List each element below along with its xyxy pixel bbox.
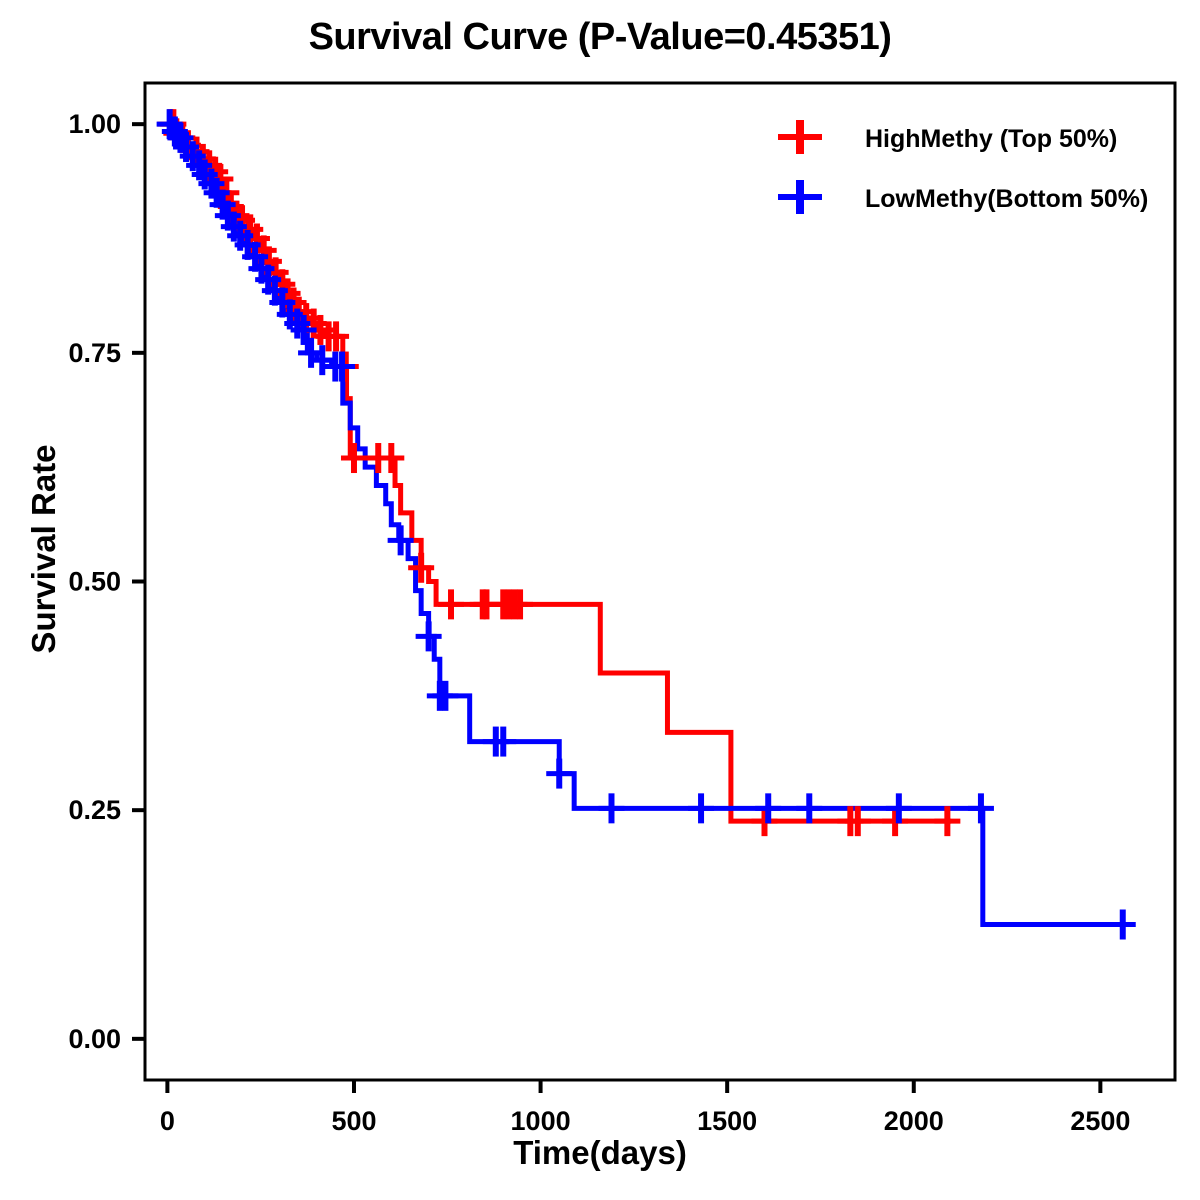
legend-item-high-methy[interactable]: HighMethy (Top 50%)	[778, 120, 1117, 154]
censor-plus-icon	[778, 120, 822, 154]
legend: HighMethy (Top 50%)LowMethy(Bottom 50%)	[778, 120, 1148, 214]
legend-label: HighMethy (Top 50%)	[865, 125, 1117, 153]
x-tick-label: 2000	[884, 1106, 944, 1136]
y-tick-label: 0.25	[68, 795, 121, 825]
censor-mark	[1110, 910, 1136, 940]
y-tick-label: 0.50	[68, 567, 121, 597]
plot-area: 050010001500200025000.000.250.500.751.00…	[0, 0, 1200, 1200]
censor-marks	[157, 109, 1136, 939]
y-tick-label: 0.00	[68, 1024, 121, 1054]
censor-mark	[546, 759, 572, 789]
censor-plus-icon	[778, 180, 822, 214]
censor-mark	[438, 589, 464, 619]
censor-mark	[432, 681, 458, 711]
legend-item-low-methy[interactable]: LowMethy(Bottom 50%)	[778, 180, 1148, 214]
x-tick-label: 2500	[1070, 1106, 1130, 1136]
censor-mark	[378, 443, 404, 473]
plot-frame	[145, 83, 1175, 1080]
survival-step-line-high-methy	[167, 124, 951, 821]
legend-label: LowMethy(Bottom 50%)	[865, 185, 1148, 213]
censor-mark	[968, 793, 994, 823]
y-tick-label: 1.00	[68, 109, 121, 139]
censor-mark	[598, 793, 624, 823]
x-tick-label: 1500	[697, 1106, 757, 1136]
x-tick-label: 0	[160, 1106, 175, 1136]
censor-mark	[416, 621, 442, 651]
x-tick-label: 500	[331, 1106, 376, 1136]
censor-mark	[688, 793, 714, 823]
survival-curve-figure: Survival Curve (P-Value=0.45351) Surviva…	[0, 0, 1200, 1200]
x-tick-label: 1000	[511, 1106, 571, 1136]
y-tick-label: 0.75	[68, 338, 121, 368]
